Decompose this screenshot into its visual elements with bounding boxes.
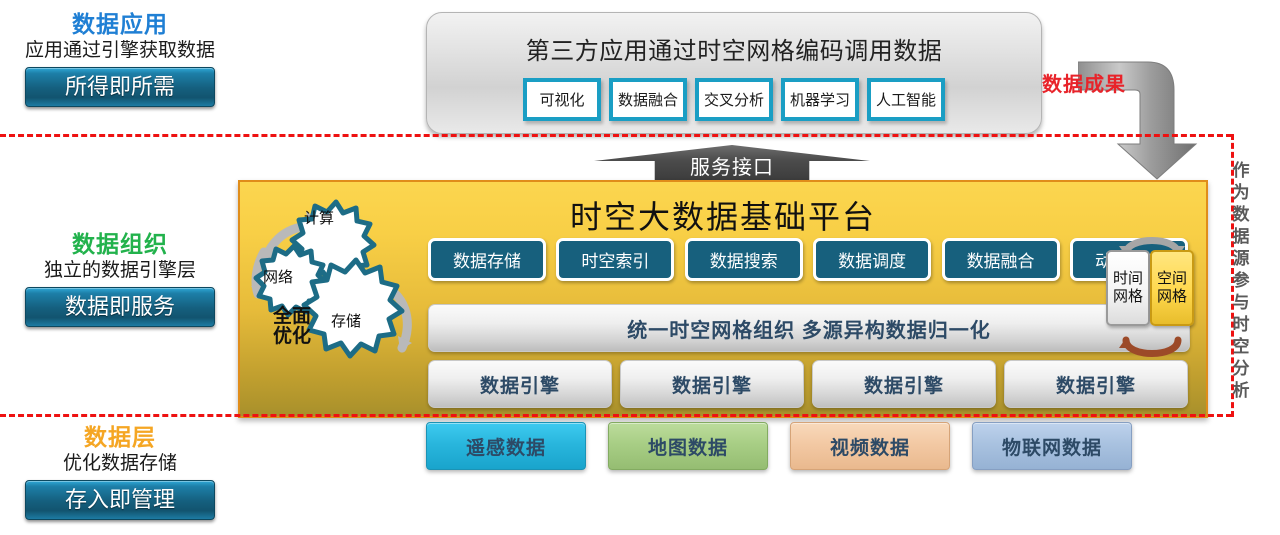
feature-box-spatiotemporal-index[interactable]: 时空索引: [556, 238, 674, 281]
app-box-visualization[interactable]: 可视化: [523, 78, 601, 121]
left-subtitle-data-layer: 优化数据存储: [0, 453, 240, 475]
grid-box-space[interactable]: 空间 网格: [1150, 250, 1194, 326]
top-panel-title: 第三方应用通过时空网格编码调用数据: [427, 31, 1041, 66]
optimize-label: 全面 优化: [252, 307, 332, 347]
diagram-canvas: 数据应用 应用通过引擎获取数据 所得即所需 数据组织 独立的数据引擎层 数据即服…: [0, 0, 1280, 535]
left-button-data-organization[interactable]: 数据即服务: [25, 287, 215, 327]
left-button-data-layer[interactable]: 存入即管理: [25, 480, 215, 520]
service-interface-label: 服务接口: [690, 151, 774, 183]
left-block-data-layer: 数据层 优化数据存储 存入即管理: [0, 425, 240, 520]
gear-label-compute: 计算: [289, 207, 349, 228]
app-box-data-fusion[interactable]: 数据融合: [609, 78, 687, 121]
data-engine-box-2[interactable]: 数据引擎: [620, 360, 804, 408]
spatiotemporal-bigdata-platform: 时空大数据基础平台: [238, 180, 1208, 418]
separator-application-organization: [0, 134, 1232, 137]
left-title-data-organization: 数据组织: [0, 232, 240, 257]
app-box-artificial-intelligence[interactable]: 人工智能: [867, 78, 945, 121]
left-subtitle-data-organization: 独立的数据引擎层: [0, 260, 240, 282]
data-engine-row: 数据引擎 数据引擎 数据引擎 数据引擎: [428, 360, 1188, 408]
data-engine-box-4[interactable]: 数据引擎: [1004, 360, 1188, 408]
feature-box-data-storage[interactable]: 数据存储: [428, 238, 546, 281]
data-box-map[interactable]: 地图数据: [608, 422, 768, 470]
grid-pair-group: 时间 网格 空间 网格: [1106, 232, 1198, 362]
feature-box-data-search[interactable]: 数据搜索: [685, 238, 803, 281]
grid-box-time[interactable]: 时间 网格: [1106, 250, 1150, 326]
third-party-application-panel: 第三方应用通过时空网格编码调用数据 可视化 数据融合 交叉分析 机器学习 人工智…: [426, 12, 1042, 134]
platform-feature-row: 数据存储 时空索引 数据搜索 数据调度 数据融合 动态处理: [428, 238, 1188, 281]
gear-label-network: 网络: [248, 266, 308, 287]
feature-box-data-fusion[interactable]: 数据融合: [942, 238, 1060, 281]
left-title-data-layer: 数据层: [0, 425, 240, 450]
service-interface-arrow-icon: 服务接口: [594, 145, 870, 183]
data-source-row: 遥感数据 地图数据 视频数据 物联网数据: [426, 422, 1186, 470]
application-box-row: 可视化 数据融合 交叉分析 机器学习 人工智能: [427, 78, 1041, 121]
data-engine-box-1[interactable]: 数据引擎: [428, 360, 612, 408]
data-box-video[interactable]: 视频数据: [790, 422, 950, 470]
separator-organization-datalayer: [0, 414, 1232, 417]
data-engine-box-3[interactable]: 数据引擎: [812, 360, 996, 408]
optimize-label-line2: 优化: [252, 327, 332, 347]
data-box-iot[interactable]: 物联网数据: [972, 422, 1132, 470]
optimize-label-line1: 全面: [252, 307, 332, 327]
left-title-data-application: 数据应用: [0, 12, 240, 37]
grid-box-time-line2: 网格: [1113, 288, 1143, 306]
left-block-data-organization: 数据组织 独立的数据引擎层 数据即服务: [0, 232, 240, 327]
left-block-data-application: 数据应用 应用通过引擎获取数据 所得即所需: [0, 12, 240, 107]
unified-grid-organization-bar: 统一时空网格组织 多源异构数据归一化: [428, 304, 1190, 352]
left-subtitle-data-application: 应用通过引擎获取数据: [0, 40, 240, 62]
feature-box-data-scheduling[interactable]: 数据调度: [813, 238, 931, 281]
app-box-cross-analysis[interactable]: 交叉分析: [695, 78, 773, 121]
left-button-data-application[interactable]: 所得即所需: [25, 67, 215, 107]
data-box-remote-sensing[interactable]: 遥感数据: [426, 422, 586, 470]
data-result-label: 数据成果: [1042, 68, 1126, 97]
grid-box-space-line2: 网格: [1157, 288, 1187, 306]
grid-box-time-line1: 时间: [1113, 270, 1143, 288]
side-note-text: 作为数据源参与时空分析: [1222, 142, 1256, 422]
grid-box-space-line1: 空间: [1157, 270, 1187, 288]
app-box-machine-learning[interactable]: 机器学习: [781, 78, 859, 121]
